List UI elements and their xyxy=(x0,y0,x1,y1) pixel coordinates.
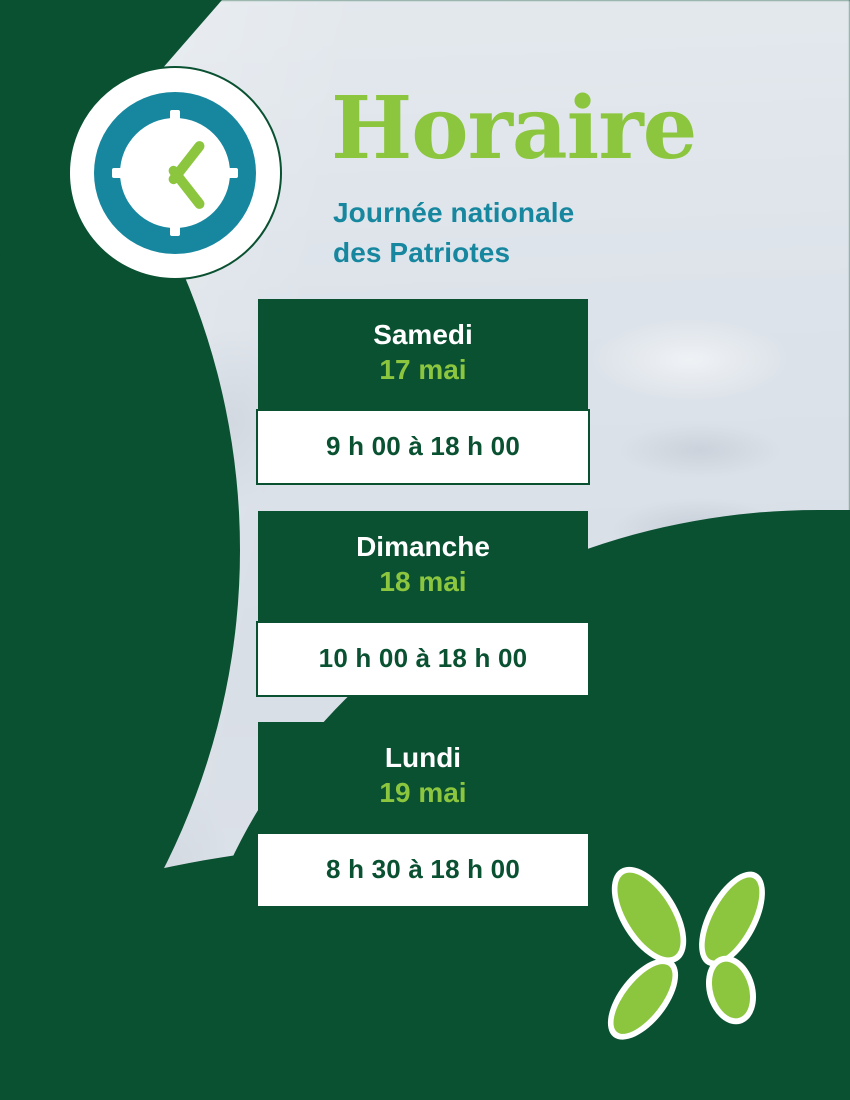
schedule-hours-box: 8 h 30 à 18 h 00 xyxy=(256,832,590,908)
clock-ring xyxy=(94,92,256,254)
schedule-hours-label: 10 h 00 à 18 h 00 xyxy=(319,643,528,673)
clock-tick-3 xyxy=(218,168,238,178)
schedule-hours-box: 10 h 00 à 18 h 00 xyxy=(256,621,590,697)
poster-canvas: Horaire Journée nationale des Patriotes … xyxy=(0,0,850,1100)
butterfly-logo-icon xyxy=(615,855,795,1045)
schedule-date-label: 19 mai xyxy=(258,775,588,810)
schedule-card-header: Lundi 19 mai xyxy=(258,722,588,832)
schedule-day-label: Dimanche xyxy=(258,529,588,564)
schedule-date-label: 18 mai xyxy=(258,564,588,599)
schedule-card: Dimanche 18 mai 10 h 00 à 18 h 00 xyxy=(256,511,596,697)
schedule-card-header: Dimanche 18 mai xyxy=(258,511,588,621)
schedule-card-header: Samedi 17 mai xyxy=(258,299,588,409)
subtitle-line-1: Journée nationale xyxy=(333,193,574,233)
schedule-card: Samedi 17 mai 9 h 00 à 18 h 00 xyxy=(256,299,596,485)
clock-tick-6 xyxy=(170,216,180,236)
clock-tick-9 xyxy=(112,168,132,178)
page-subtitle: Journée nationale des Patriotes xyxy=(333,193,574,273)
schedule-day-label: Lundi xyxy=(258,740,588,775)
page-title: Horaire xyxy=(331,88,696,170)
schedule-hours-box: 9 h 00 à 18 h 00 xyxy=(256,409,590,485)
clock-tick-12 xyxy=(170,110,180,130)
clock-icon xyxy=(68,66,282,280)
schedule-day-label: Samedi xyxy=(258,317,588,352)
schedule-card: Lundi 19 mai 8 h 30 à 18 h 00 xyxy=(256,722,596,908)
schedule-hours-label: 9 h 00 à 18 h 00 xyxy=(326,431,520,461)
schedule-date-label: 17 mai xyxy=(258,352,588,387)
schedule-hours-label: 8 h 30 à 18 h 00 xyxy=(326,854,520,884)
subtitle-line-2: des Patriotes xyxy=(333,233,574,273)
